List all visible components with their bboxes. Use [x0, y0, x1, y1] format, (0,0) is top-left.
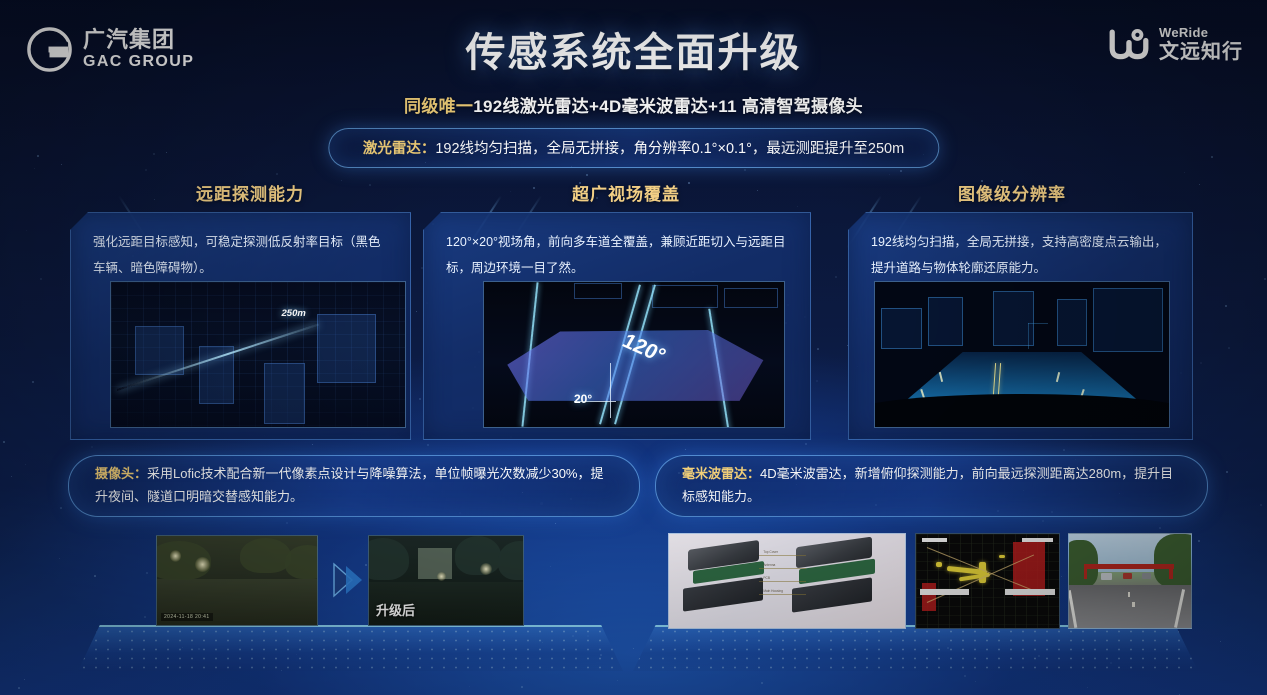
- feature-panel-1-text: 强化远距目标感知，可稳定探测低反射率目标（黑色车辆、暗色障碍物）。: [93, 230, 392, 281]
- feature-image-resolution: [874, 281, 1170, 428]
- vehicle-hood: [874, 394, 1170, 428]
- highway-driving-image: [1068, 533, 1192, 629]
- panel-corner-accent: [417, 201, 448, 232]
- column-heading-3: 图像级分辨率: [958, 180, 1066, 205]
- mmwave-callout-body: 毫米波雷达：4D毫米波雷达，新增俯仰探测能力，前向最远探测距离达280m，提升目…: [682, 463, 1181, 509]
- page-title: 传感系统全面升级: [0, 20, 1267, 78]
- night-road-before-image: 2024-11-18 20:41: [156, 535, 318, 626]
- night-road-after-image: 升级后: [368, 535, 524, 626]
- subtitle-highlight: 同级唯一: [404, 97, 473, 116]
- panel-corner-accent: [64, 201, 95, 232]
- camera-callout-body: 摄像头：采用Lofic技术配合新一代像素点设计与降噪算法，单位帧曝光次数减少30…: [95, 463, 613, 509]
- range-label-250m: 250m: [282, 308, 306, 319]
- feature-image-fov: 120° 20°: [483, 281, 785, 428]
- platform-right: [633, 625, 1198, 671]
- page-subtitle: 同级唯一192线激光雷达+4D毫米波雷达+11 高清智驾摄像头: [0, 92, 1267, 117]
- fov-label-vertical: 20°: [574, 392, 592, 406]
- camera-callout-text: 采用Lofic技术配合新一代像素点设计与降噪算法，单位帧曝光次数减少30%，提升…: [95, 466, 604, 504]
- fov-artwork: 120° 20°: [484, 282, 784, 427]
- slide-canvas: 广汽集团 GAC GROUP WeRide 文远知行 传感系统全面升级 同级唯一…: [0, 0, 1267, 695]
- radar-pointcloud-image: [915, 533, 1060, 629]
- panel-corner-accent: [842, 201, 873, 232]
- module-callout-2: PCB: [763, 576, 770, 580]
- camera-callout: 摄像头：采用Lofic技术配合新一代像素点设计与降噪算法，单位帧曝光次数减少30…: [68, 455, 640, 517]
- subtitle-rest: 192线激光雷达+4D毫米波雷达+11 高清智驾摄像头: [473, 97, 863, 116]
- chevron-right-icon: [330, 562, 364, 598]
- module-callout-1: Antenna: [763, 563, 775, 567]
- long-range-lidar-artwork: 250m: [111, 282, 405, 427]
- module-callout-3: Main Housing: [763, 589, 783, 593]
- column-heading-1: 远距探测能力: [196, 180, 304, 205]
- lidar-spec-label: 激光雷达：: [363, 141, 436, 157]
- lidar-spec-text: 192线均匀扫描，全局无拼接，角分辨率0.1°×0.1°，最远测距提升至250m: [435, 141, 904, 157]
- platform-left: [78, 625, 623, 671]
- module-callout-0: Top Cover: [763, 550, 778, 554]
- lidar-spec-pill: 激光雷达：192线均匀扫描，全局无拼接，角分辨率0.1°×0.1°，最远测距提升…: [328, 128, 939, 168]
- range-arc-inner: [110, 281, 406, 428]
- mmwave-callout: 毫米波雷达：4D毫米波雷达，新增俯仰探测能力，前向最远探测距离达280m，提升目…: [655, 455, 1208, 517]
- feature-image-long-range: 250m: [110, 281, 406, 428]
- after-upgrade-label: 升级后: [376, 600, 415, 619]
- feature-panel-3-text: 192线均匀扫描，全局无拼接，支持高密度点云输出，提升道路与物体轮廓还原能力。: [871, 230, 1174, 281]
- timestamp-stamp: 2024-11-18 20:41: [161, 613, 213, 621]
- feature-panel-2-text: 120°×20°视场角，前向多车道全覆盖，兼顾近距切入与远距目标，周边环境一目了…: [446, 230, 792, 281]
- camera-callout-label: 摄像头：: [95, 466, 147, 481]
- mmwave-callout-label: 毫米波雷达：: [682, 466, 760, 481]
- column-heading-2: 超广视场覆盖: [572, 180, 680, 205]
- night-road-artwork: [875, 282, 1169, 427]
- radar-module-exploded-image: Top Cover Antenna PCB Main Housing: [668, 533, 906, 629]
